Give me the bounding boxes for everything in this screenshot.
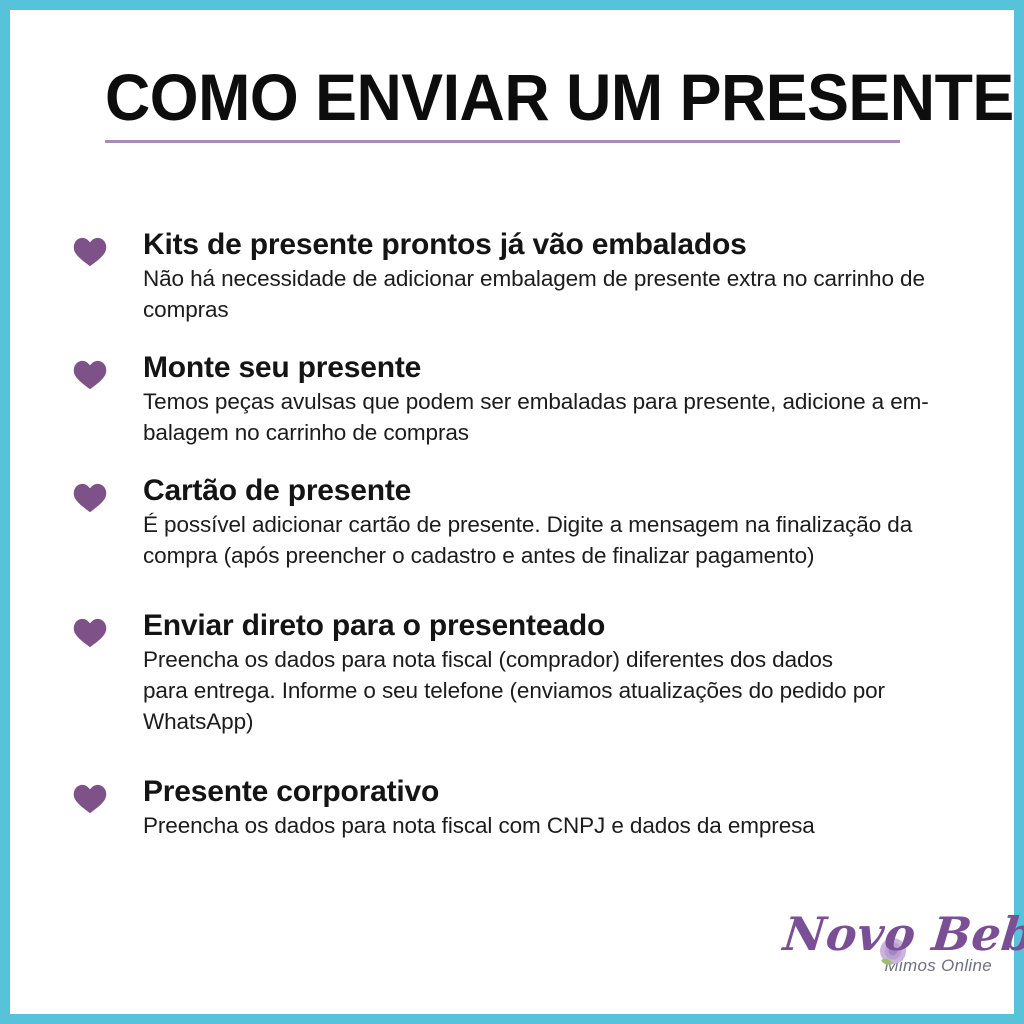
heart-icon xyxy=(73,359,107,390)
list-item: Presente corporativo Preencha os dados p… xyxy=(73,775,983,841)
item-body: Presente corporativo Preencha os dados p… xyxy=(143,775,983,841)
bullet-wrap xyxy=(73,775,143,814)
steps-list: Kits de presente prontos já vão embalado… xyxy=(73,228,983,867)
list-item: Monte seu presente Temos peças avulsas q… xyxy=(73,351,983,448)
item-description: Preencha os dados para nota fiscal com C… xyxy=(143,810,983,841)
item-body: Cartão de presente É possível adicionar … xyxy=(143,474,983,571)
list-item: Enviar direto para o presenteado Preench… xyxy=(73,609,983,737)
title-underline-rule xyxy=(105,140,900,143)
bullet-wrap xyxy=(73,609,143,648)
bullet-wrap xyxy=(73,351,143,390)
item-description: É possível adicionar cartão de presente.… xyxy=(143,509,983,571)
title-block: COMO ENVIAR UM PRESENTE xyxy=(105,62,905,143)
item-heading: Kits de presente prontos já vão embalado… xyxy=(143,228,983,262)
item-heading: Monte seu presente xyxy=(143,351,983,385)
list-item: Kits de presente prontos já vão embalado… xyxy=(73,228,983,325)
item-heading: Cartão de presente xyxy=(143,474,983,508)
item-description: Temos peças avulsas que podem ser embala… xyxy=(143,386,983,448)
item-body: Monte seu presente Temos peças avulsas q… xyxy=(143,351,983,448)
bullet-wrap xyxy=(73,228,143,267)
heart-icon xyxy=(73,482,107,513)
item-body: Kits de presente prontos já vão embalado… xyxy=(143,228,983,325)
item-heading: Presente corporativo xyxy=(143,775,983,809)
brand-logo: Novo Bebê Mimos Online xyxy=(781,908,996,1000)
heart-icon xyxy=(73,236,107,267)
logo-brand-text: Novo Bebê xyxy=(781,908,1001,960)
item-description: Não há necessidade de adicionar embalage… xyxy=(143,263,983,325)
infographic-canvas: COMO ENVIAR UM PRESENTE Kits de presente… xyxy=(0,0,1024,1024)
heart-icon xyxy=(73,783,107,814)
item-description: Preencha os dados para nota fiscal (comp… xyxy=(143,644,983,737)
item-body: Enviar direto para o presenteado Preench… xyxy=(143,609,983,737)
list-item: Cartão de presente É possível adicionar … xyxy=(73,474,983,571)
bullet-wrap xyxy=(73,474,143,513)
page-title: COMO ENVIAR UM PRESENTE xyxy=(105,62,865,132)
item-heading: Enviar direto para o presenteado xyxy=(143,609,983,643)
heart-icon xyxy=(73,617,107,648)
